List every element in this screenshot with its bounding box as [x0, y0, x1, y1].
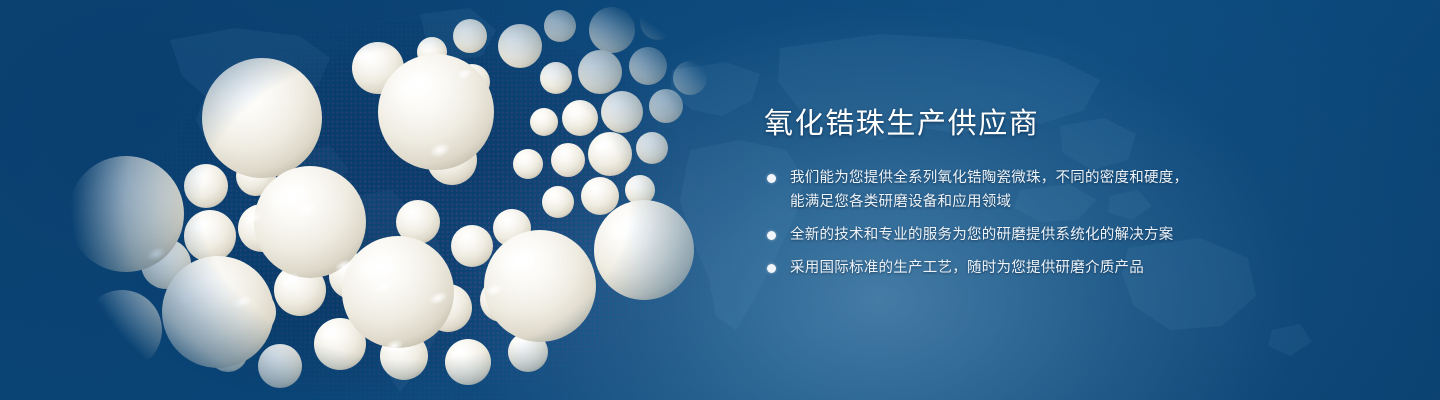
feature-list: 我们能为您提供全系列氧化锆陶瓷微珠，不同的密度和硬度， 能满足您各类研磨设备和应… [764, 166, 1234, 280]
zirconia-beads-image [0, 0, 760, 400]
hero-banner: 氧化锆珠生产供应商 我们能为您提供全系列氧化锆陶瓷微珠，不同的密度和硬度， 能满… [0, 0, 1440, 400]
halftone-texture [110, 0, 750, 400]
banner-content: 氧化锆珠生产供应商 我们能为您提供全系列氧化锆陶瓷微珠，不同的密度和硬度， 能满… [764, 104, 1234, 280]
bullet-dot-icon [767, 264, 776, 273]
list-item-line: 全新的技术和专业的服务为您的研磨提供系统化的解决方案 [790, 223, 1234, 247]
page-title: 氧化锆珠生产供应商 [764, 104, 1234, 144]
list-item: 采用国际标准的生产工艺，随时为您提供研磨介质产品 [764, 256, 1234, 280]
list-item-line: 采用国际标准的生产工艺，随时为您提供研磨介质产品 [790, 256, 1234, 280]
bullet-dot-icon [767, 231, 776, 240]
list-item: 我们能为您提供全系列氧化锆陶瓷微珠，不同的密度和硬度， 能满足您各类研磨设备和应… [764, 166, 1234, 214]
list-item-line: 我们能为您提供全系列氧化锆陶瓷微珠，不同的密度和硬度， [790, 166, 1234, 190]
list-item: 全新的技术和专业的服务为您的研磨提供系统化的解决方案 [764, 223, 1234, 247]
bullet-dot-icon [767, 174, 776, 183]
list-item-line: 能满足您各类研磨设备和应用领域 [790, 190, 1234, 214]
